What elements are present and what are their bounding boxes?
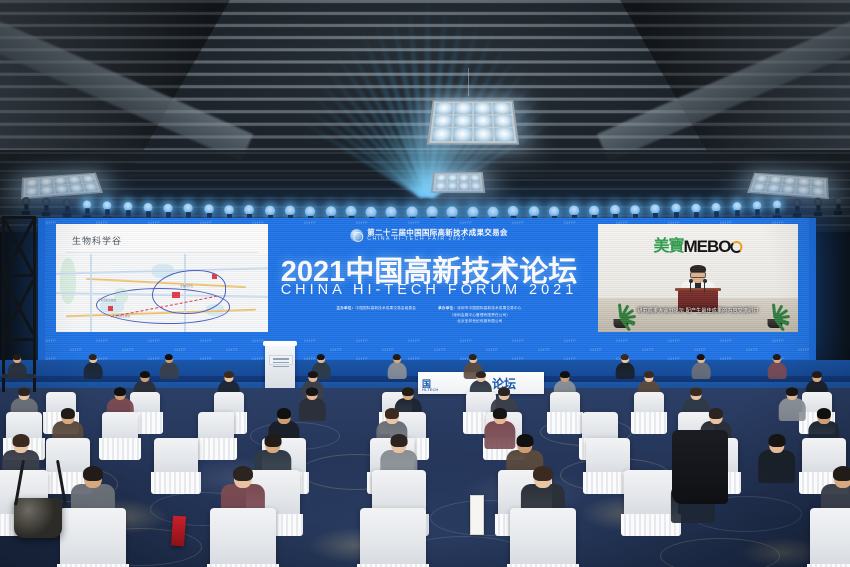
audience-member-hair bbox=[773, 354, 781, 360]
audience-member-torso bbox=[779, 398, 806, 421]
audience-member bbox=[758, 435, 795, 486]
audience-member-hair bbox=[114, 387, 126, 396]
audience-member-torso bbox=[758, 450, 795, 483]
side-banner-text-c: HI-TECH bbox=[422, 387, 438, 392]
wall-watermark: CHTF bbox=[200, 338, 212, 343]
audience-member-torso bbox=[616, 362, 635, 379]
wall-watermark: CHTF bbox=[44, 220, 56, 225]
audience-member bbox=[299, 387, 326, 423]
audience-member-hair bbox=[306, 387, 318, 396]
stage-lectern bbox=[265, 345, 295, 391]
spotlight-yoke bbox=[64, 207, 68, 213]
audience-member-hair bbox=[533, 466, 553, 481]
audience-member-hair bbox=[769, 434, 786, 447]
led-wall-edge-left bbox=[38, 218, 45, 364]
slide-title-rule bbox=[66, 252, 258, 253]
spotlight-yoke bbox=[775, 208, 779, 214]
audience-chair bbox=[198, 412, 234, 442]
moving-head-spotlight bbox=[61, 199, 71, 218]
audience-member-hair bbox=[817, 408, 831, 419]
audience-member-torso bbox=[84, 362, 103, 379]
spotlight-yoke bbox=[105, 209, 109, 215]
audience-member-hair bbox=[165, 354, 173, 360]
wall-watermark: CHTF bbox=[96, 338, 108, 343]
lectern-sign bbox=[269, 355, 293, 365]
mebo-brand-logo: 美寶 MEBO bbox=[653, 238, 742, 255]
moving-head-spotlight bbox=[82, 200, 92, 219]
led-right-video-panel: 美寶 MEBO bbox=[598, 224, 798, 332]
red-booklet bbox=[171, 516, 186, 547]
audience-member-hair bbox=[83, 466, 103, 481]
audience-member-hair bbox=[811, 371, 821, 379]
audience-member-hair bbox=[697, 354, 705, 360]
spotlight-base bbox=[834, 211, 842, 215]
wall-watermark: CHTF bbox=[226, 347, 238, 352]
moving-head-spotlight bbox=[813, 198, 823, 216]
audience-member-hair bbox=[139, 371, 149, 379]
moving-head-spotlight bbox=[833, 197, 843, 215]
spotlight-yoke bbox=[714, 211, 719, 217]
spotlight-yoke bbox=[795, 207, 799, 213]
audience-member bbox=[84, 355, 103, 380]
audience-member bbox=[779, 387, 806, 423]
audience-chair bbox=[360, 508, 426, 567]
audience-member-hair bbox=[393, 354, 401, 360]
audience-member-hair bbox=[690, 387, 702, 396]
video-caption-text: 研究成果大会分论坛 配产生最佳成果的内容交流研讨 bbox=[602, 307, 794, 314]
wall-watermark: CHTF bbox=[70, 347, 82, 352]
audience-member-hair bbox=[493, 408, 507, 419]
wall-watermark: CHTF bbox=[668, 338, 680, 343]
audience-chair bbox=[810, 508, 850, 567]
audience-member-hair bbox=[307, 371, 317, 379]
mebo-logo-cn: 美寶 bbox=[653, 239, 683, 255]
audience-member-hair bbox=[89, 354, 97, 360]
audience-member-torso bbox=[388, 362, 407, 379]
ceiling-light-panel-far bbox=[431, 172, 486, 193]
forum-headline-en: CHINA HI-TECH FORUM 2021 bbox=[281, 282, 578, 298]
audience-member-hair bbox=[13, 434, 30, 447]
wall-watermark: CHTF bbox=[616, 338, 628, 343]
audience-chair bbox=[550, 392, 580, 416]
ceiling-light-panel-main bbox=[427, 100, 519, 144]
organizer-col-organizer: 承办单位：深圳市中国国际高新技术成果交易中心 （深圳会展中心管理有限责任公司） … bbox=[438, 306, 521, 324]
audience-member-hair bbox=[517, 434, 534, 447]
organizer-line-2: （深圳会展中心管理有限责任公司） bbox=[449, 313, 510, 318]
mebo-logo-en: MEBO bbox=[684, 238, 731, 255]
audience-chair bbox=[634, 392, 664, 416]
audience-member bbox=[160, 355, 179, 380]
wall-watermark: CHTF bbox=[642, 347, 654, 352]
audience-member-hair bbox=[223, 371, 233, 379]
led-video-wall: CHTFCHTFCHTFCHTFCHTFCHTFCHTFCHTFCHTFCHTF… bbox=[38, 218, 816, 364]
audience-member-hair bbox=[475, 371, 485, 379]
moving-head-spotlight bbox=[21, 197, 31, 215]
audience-chair bbox=[102, 412, 138, 442]
wall-watermark: CHTF bbox=[122, 347, 134, 352]
spotlight-yoke bbox=[85, 208, 89, 214]
wall-watermark: CHTF bbox=[746, 347, 758, 352]
chtf-fair-logo: 第二十三届中国国际高新技术成果交易会 CHINA HI-TECH FAIR 20… bbox=[350, 229, 507, 242]
audience-member-hair bbox=[277, 408, 291, 419]
program-card bbox=[470, 495, 484, 535]
moving-head-spotlight bbox=[792, 199, 802, 218]
wall-watermark: CHTF bbox=[772, 338, 784, 343]
audience-member-hair bbox=[498, 387, 510, 396]
audience-chair bbox=[510, 508, 576, 567]
audience-member-hair bbox=[385, 408, 399, 419]
led-left-slide-panel: 生物科学谷 深圳国际生物谷 坝光国 bbox=[56, 224, 268, 332]
wall-watermark: CHTF bbox=[590, 347, 602, 352]
host-line-1: 中国国际高新技术成果交易会组委会 bbox=[355, 306, 416, 310]
audience-member-torso bbox=[299, 398, 326, 421]
wall-watermark: CHTF bbox=[44, 338, 56, 343]
audience-chair bbox=[586, 438, 630, 476]
conference-hall-photo: CHTFCHTFCHTFCHTFCHTFCHTFCHTFCHTFCHTFCHTF… bbox=[0, 0, 850, 567]
audience-chair bbox=[60, 508, 126, 567]
audience-member-hair bbox=[18, 387, 30, 396]
audience-member-hair bbox=[265, 434, 282, 447]
audience-chair bbox=[210, 508, 276, 567]
wall-watermark: CHTF bbox=[148, 338, 160, 343]
audience-member bbox=[616, 355, 635, 380]
led-wall-edge-right bbox=[809, 218, 816, 364]
audience-member-hair bbox=[709, 408, 723, 419]
slide-title: 生物科学谷 bbox=[72, 234, 122, 247]
wall-watermark: CHTF bbox=[174, 347, 186, 352]
spotlight-yoke bbox=[836, 204, 840, 210]
audience-member-hair bbox=[621, 354, 629, 360]
audience-member-hair bbox=[317, 354, 325, 360]
spotlight-base bbox=[42, 212, 50, 216]
audience-member-hair bbox=[559, 371, 569, 379]
audience-member bbox=[8, 355, 27, 380]
audience-member-hair bbox=[13, 354, 21, 360]
draped-jacket bbox=[672, 430, 728, 504]
audience-member-torso bbox=[692, 362, 711, 379]
audience-member bbox=[692, 355, 711, 380]
audience-member-hair bbox=[391, 434, 408, 447]
spotlight-yoke bbox=[24, 204, 28, 210]
audience-member bbox=[768, 355, 787, 380]
audience-member-hair bbox=[469, 354, 477, 360]
spotlight-yoke bbox=[755, 209, 759, 215]
audience-member-hair bbox=[61, 408, 75, 419]
chtf-globe-icon bbox=[350, 229, 363, 242]
audience-chair bbox=[624, 470, 678, 518]
spotlight-base bbox=[813, 212, 821, 216]
carpet-motif bbox=[660, 538, 780, 567]
organizer-label: 承办单位： bbox=[438, 306, 457, 310]
audience-member-hair bbox=[786, 387, 798, 396]
audience-member-hair bbox=[233, 466, 253, 481]
spotlight-yoke bbox=[734, 210, 739, 216]
fair-name-en: CHINA HI-TECH FAIR 2021 bbox=[367, 237, 507, 242]
audience-member-torso bbox=[160, 362, 179, 379]
spotlight-yoke bbox=[816, 206, 820, 212]
mebo-accent-dot-icon bbox=[731, 241, 743, 253]
spotlight-yoke bbox=[125, 210, 130, 216]
audience-member bbox=[388, 355, 407, 380]
organizer-credits: 主办单位：中国国际高新技术成果交易会组委会 承办单位：深圳市中国国际高新技术成果… bbox=[336, 306, 521, 324]
host-label: 主办单位： bbox=[336, 306, 355, 310]
audience-member-torso bbox=[8, 362, 27, 379]
moving-head-spotlight bbox=[772, 200, 782, 219]
organizer-line-1: 深圳市中国国际高新技术成果交易中心 bbox=[457, 306, 522, 310]
audience-member-hair bbox=[833, 466, 850, 481]
audience-member-hair bbox=[643, 371, 653, 379]
audience-member-torso bbox=[768, 362, 787, 379]
video-speaker-figure bbox=[675, 266, 721, 312]
wall-watermark: CHTF bbox=[720, 338, 732, 343]
slide-map-diagram: 深圳国际生物谷 坝光国际生物谷 生物科学谷 bbox=[56, 254, 268, 332]
moving-head-spotlight bbox=[41, 198, 51, 216]
organizer-line-3: 北京圣邦世纪传媒有限公司 bbox=[457, 319, 503, 324]
wall-watermark: CHTF bbox=[694, 347, 706, 352]
spotlight-yoke bbox=[145, 211, 150, 217]
light-panel-hanger bbox=[468, 68, 469, 96]
spotlight-base bbox=[22, 211, 30, 215]
audience-chair bbox=[154, 438, 198, 476]
led-center-title-panel: 第二十三届中国国际高新技术成果交易会 CHINA HI-TECH FAIR 20… bbox=[286, 218, 572, 364]
organizer-col-host: 主办单位：中国国际高新技术成果交易会组委会 bbox=[336, 306, 416, 311]
audience-member-hair bbox=[402, 387, 414, 396]
spotlight-yoke bbox=[44, 206, 48, 212]
